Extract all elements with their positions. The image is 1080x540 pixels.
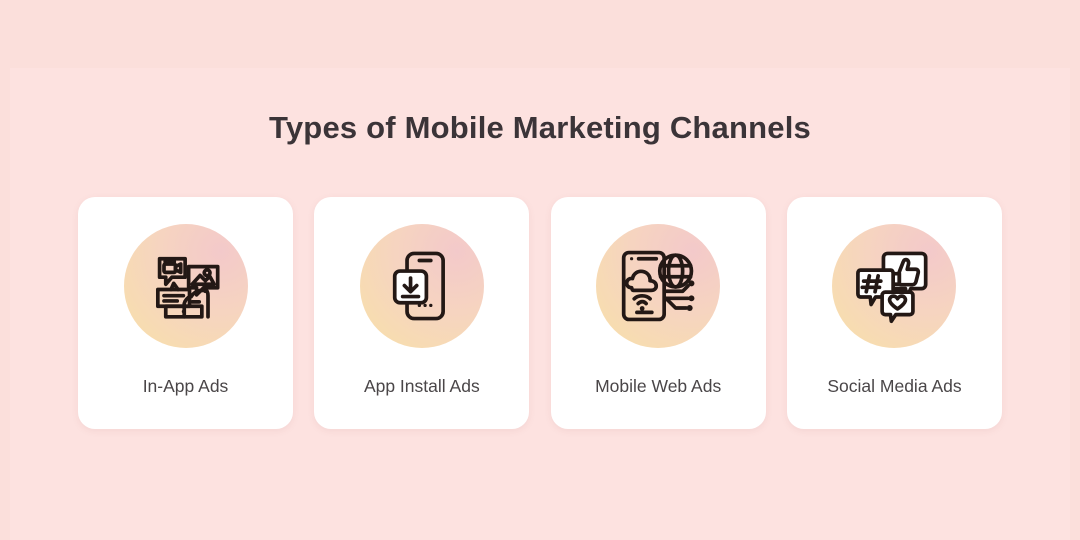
social-media-ads-icon: [832, 224, 956, 348]
channel-card-in-app-ads[interactable]: In-App Ads: [78, 197, 293, 429]
app-install-ads-icon: [360, 224, 484, 348]
mobile-web-ads-icon: [596, 224, 720, 348]
page-title: Types of Mobile Marketing Channels: [0, 108, 1080, 148]
channel-card-social-media-ads[interactable]: Social Media Ads: [787, 197, 1002, 429]
channel-card-mobile-web-ads[interactable]: Mobile Web Ads: [551, 197, 766, 429]
channel-card-label: In-App Ads: [143, 375, 229, 397]
channel-card-label: App Install Ads: [364, 375, 480, 397]
slide-canvas: Types of Mobile Marketing Channels: [0, 0, 1080, 540]
channel-card-app-install-ads[interactable]: App Install Ads: [314, 197, 529, 429]
channel-cards-row: In-App Ads: [78, 197, 1002, 429]
channel-card-label: Mobile Web Ads: [595, 375, 721, 397]
in-app-ads-icon: [124, 224, 248, 348]
channel-card-label: Social Media Ads: [827, 375, 961, 397]
slide-content: Types of Mobile Marketing Channels: [0, 0, 1080, 540]
